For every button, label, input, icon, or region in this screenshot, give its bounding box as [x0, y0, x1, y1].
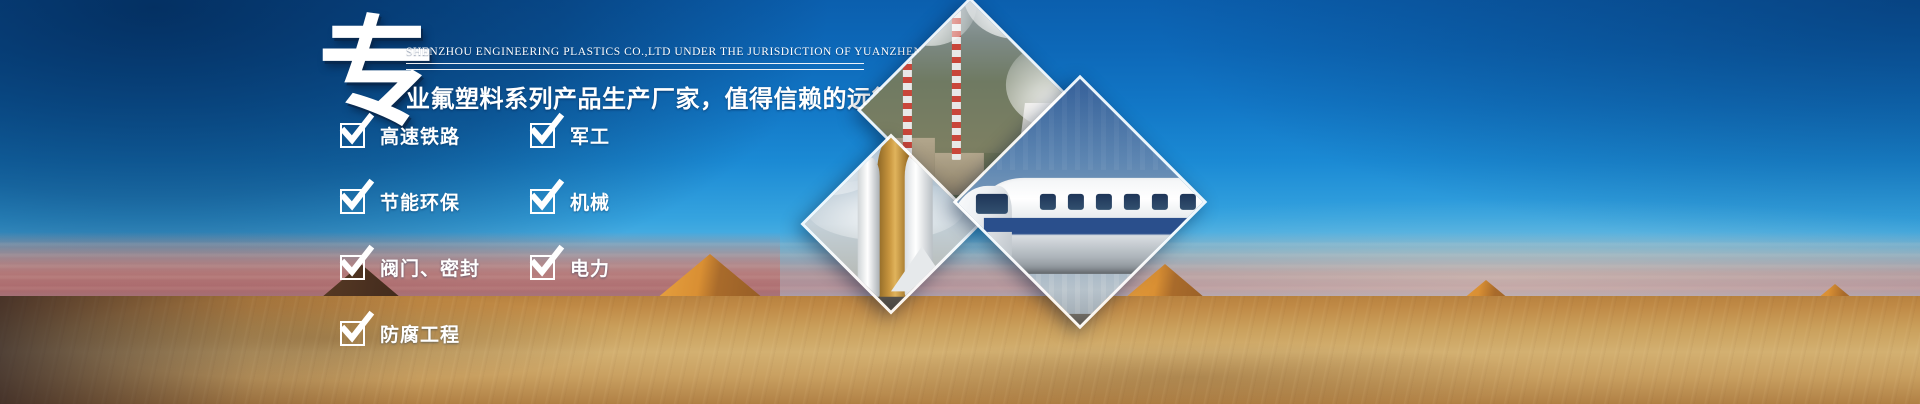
promotional-banner: 专 SHENZHOU ENGINEERING PLASTICS CO.,LTD …	[0, 0, 1920, 404]
diamond-photo-cluster	[0, 0, 1920, 404]
